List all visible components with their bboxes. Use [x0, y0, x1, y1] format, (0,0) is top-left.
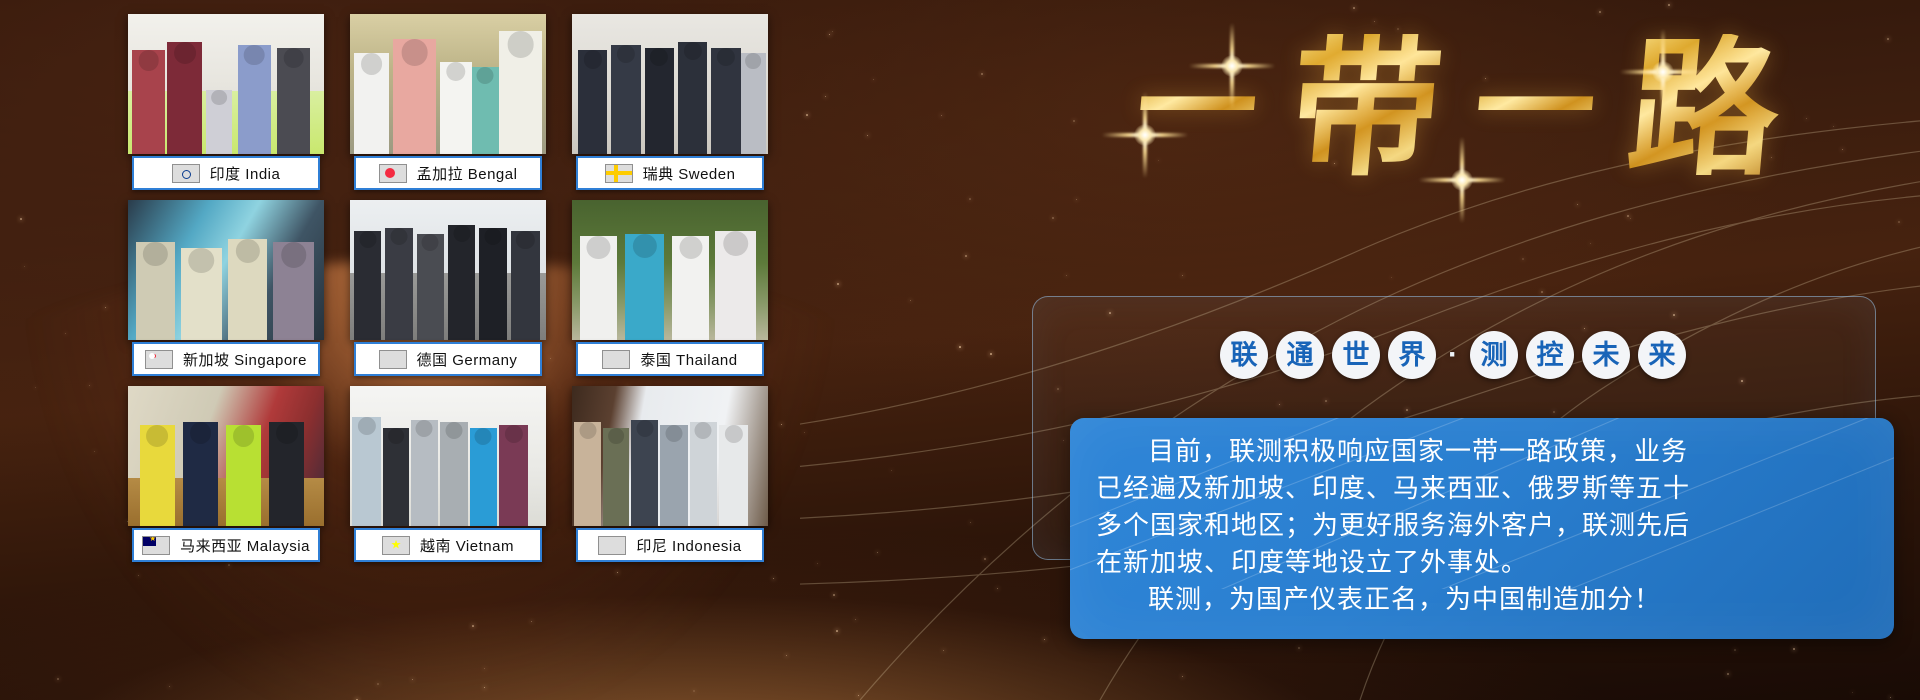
country-label-text: 印度 India [210, 163, 281, 184]
country-label-text: 越南 Vietnam [420, 535, 514, 556]
description-line: 多个国家和地区；为更好服务海外客户，联测先后 [1096, 508, 1868, 545]
description-line: 目前，联测积极响应国家一带一路政策，业务 [1096, 434, 1868, 471]
slogan-char-badge: 联 [1220, 331, 1268, 379]
country-photo-grid: 印度 India 孟加拉 Bengal [128, 14, 768, 562]
banner-stage: 印度 India 孟加拉 Bengal [0, 0, 1920, 700]
sparkle-core-decoration [1451, 169, 1473, 191]
slogan-char-badge: 界 [1388, 331, 1436, 379]
country-label: 马来西亚 Malaysia [132, 528, 320, 562]
country-label: 越南 Vietnam [354, 528, 542, 562]
country-label: 瑞典 Sweden [576, 156, 764, 190]
photo-thumbnail [128, 200, 324, 340]
gallery-item[interactable]: 印度 India [128, 14, 324, 190]
gallery-item[interactable]: 印尼 Indonesia [572, 386, 768, 562]
singapore-flag [145, 350, 173, 369]
photo-thumbnail [572, 200, 768, 340]
thailand-flag [602, 350, 630, 369]
title-char: 路 [1622, 34, 1785, 184]
country-label-text: 德国 Germany [417, 349, 518, 370]
gallery-item[interactable]: 泰国 Thailand [572, 200, 768, 376]
sparkle-core-decoration [1221, 55, 1243, 77]
country-label-text: 孟加拉 Bengal [417, 163, 518, 184]
slogan-char-badge: 世 [1332, 331, 1380, 379]
photo-thumbnail [572, 14, 768, 154]
slogan-char-badge: 控 [1526, 331, 1574, 379]
gallery-item[interactable]: 越南 Vietnam [350, 386, 546, 562]
slogan-row: 联 通 世 界 · 测 控 未 来 [1032, 322, 1874, 388]
gallery-item[interactable]: 孟加拉 Bengal [350, 14, 546, 190]
slogan-char-badge: 来 [1638, 331, 1686, 379]
country-label-text: 新加坡 Singapore [183, 349, 307, 370]
country-label: 德国 Germany [354, 342, 542, 376]
indonesia-flag [598, 536, 626, 555]
description-line: 在新加坡、印度等地设立了外事处。 [1096, 545, 1868, 582]
slogan-char-badge: 通 [1276, 331, 1324, 379]
description-box: 目前，联测积极响应国家一带一路政策，业务 已经遍及新加坡、印度、马来西亚、俄罗斯… [1070, 418, 1894, 639]
photo-thumbnail [350, 200, 546, 340]
country-label: 孟加拉 Bengal [354, 156, 542, 190]
malaysia-flag [142, 536, 170, 555]
country-label: 印尼 Indonesia [576, 528, 764, 562]
slogan-char-badge: 未 [1582, 331, 1630, 379]
photo-thumbnail [128, 14, 324, 154]
bangladesh-flag [379, 164, 407, 183]
vietnam-flag [382, 536, 410, 555]
country-label-text: 泰国 Thailand [640, 349, 737, 370]
photo-thumbnail [572, 386, 768, 526]
gallery-item[interactable]: 新加坡 Singapore [128, 200, 324, 376]
gallery-item[interactable]: 瑞典 Sweden [572, 14, 768, 190]
description-line: 已经遍及新加坡、印度、马来西亚、俄罗斯等五十 [1096, 471, 1868, 508]
country-label-text: 马来西亚 Malaysia [180, 535, 310, 556]
photo-thumbnail [350, 386, 546, 526]
photo-thumbnail [350, 14, 546, 154]
country-label-text: 瑞典 Sweden [643, 163, 736, 184]
slogan-separator-dot: · [1444, 340, 1462, 370]
sparkle-core-decoration [1134, 124, 1156, 146]
country-label: 泰国 Thailand [576, 342, 764, 376]
germany-flag [379, 350, 407, 369]
gallery-item[interactable]: 马来西亚 Malaysia [128, 386, 324, 562]
title-char: 带 [1284, 34, 1447, 184]
title-char: 一 [1470, 49, 1600, 169]
sweden-flag [605, 164, 633, 183]
description-line: 联测，为国产仪表正名，为中国制造加分！ [1096, 582, 1868, 619]
country-label-text: 印尼 Indonesia [636, 535, 741, 556]
country-label: 新加坡 Singapore [132, 342, 320, 376]
photo-thumbnail [128, 386, 324, 526]
slogan-char-badge: 测 [1470, 331, 1518, 379]
country-label: 印度 India [132, 156, 320, 190]
gallery-item[interactable]: 德国 Germany [350, 200, 546, 376]
india-flag [172, 164, 200, 183]
sparkle-core-decoration [1652, 61, 1674, 83]
